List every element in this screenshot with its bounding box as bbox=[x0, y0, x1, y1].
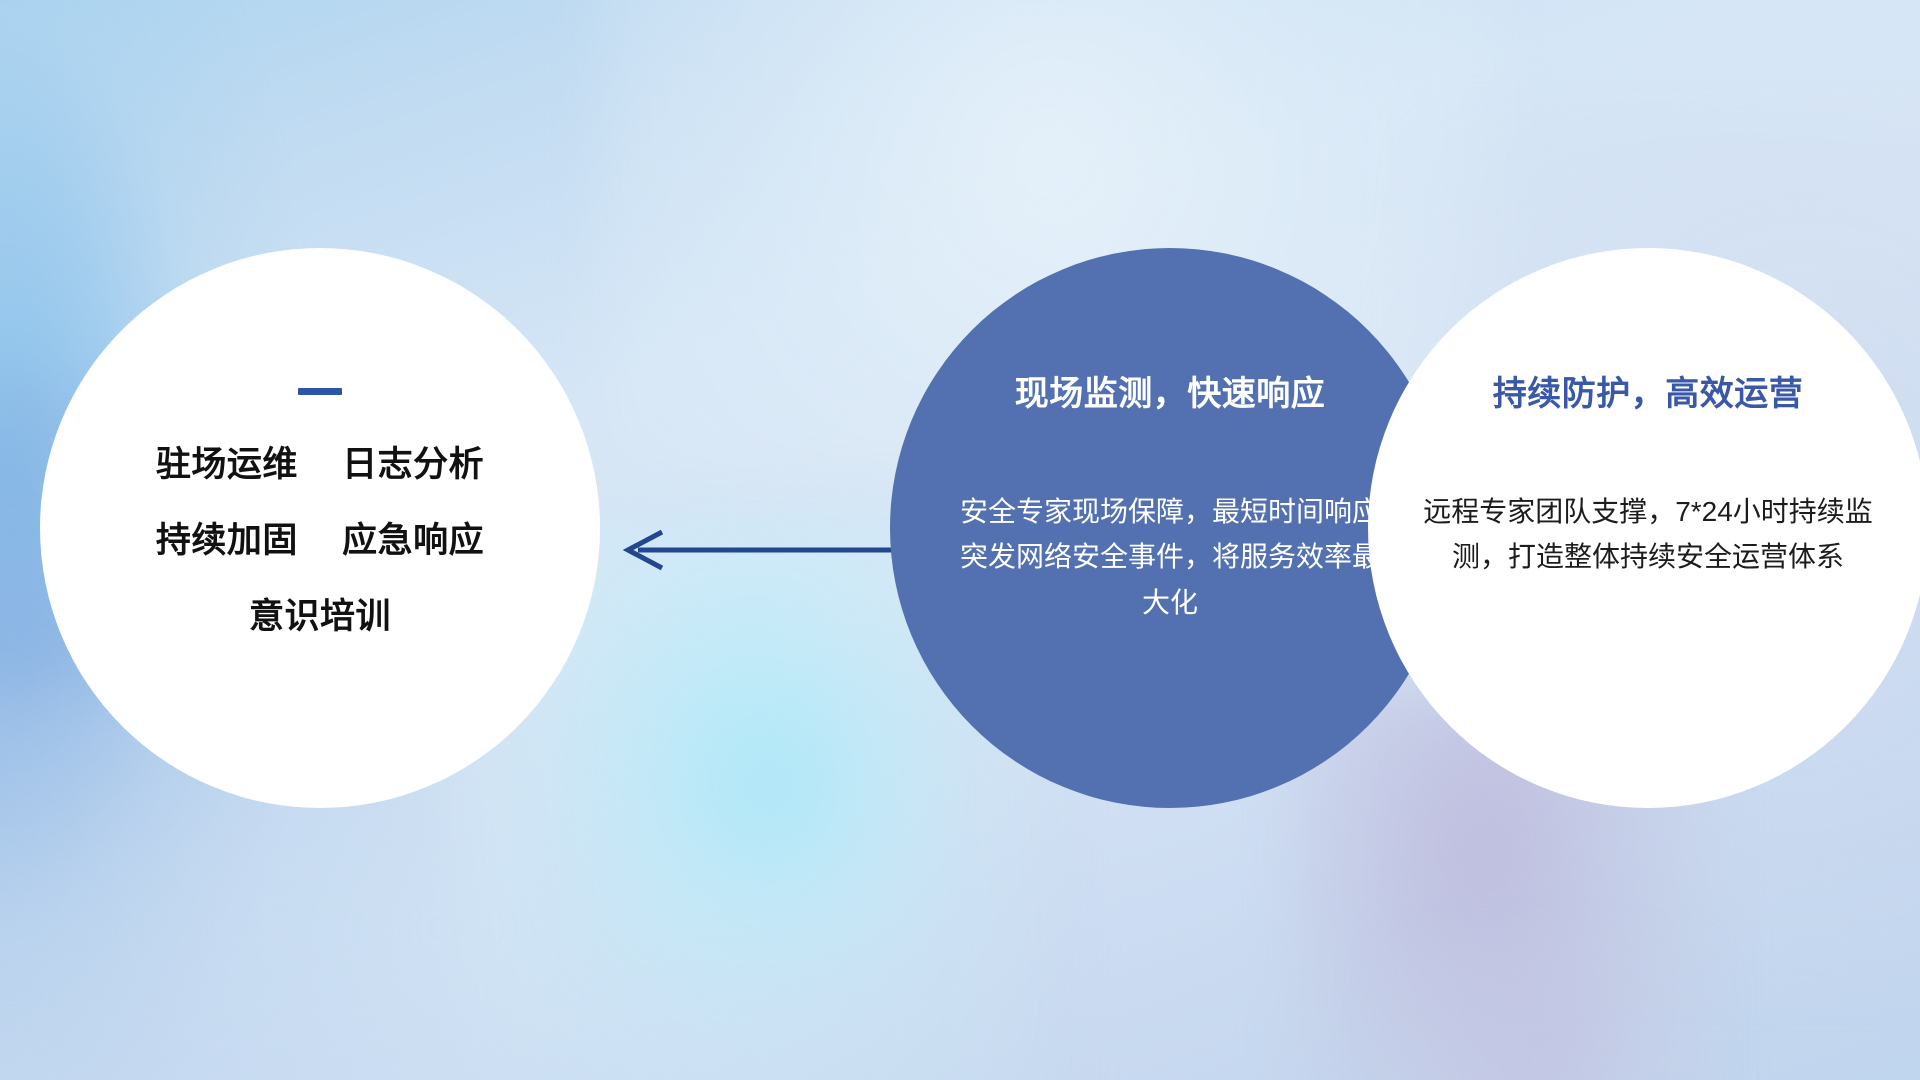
capability-circle-middle-content: 现场监测，快速响应 安全专家现场保障，最短时间响应突发网络安全事件，将服务效率最… bbox=[890, 366, 1450, 625]
capability-circle-right[interactable]: 持续防护，高效运营 远程专家团队支撑，7*24小时持续监测，打造整体持续安全运营… bbox=[1368, 248, 1920, 808]
middle-circle-body: 安全专家现场保障，最短时间响应突发网络安全事件，将服务效率最大化 bbox=[948, 489, 1392, 625]
keyword-yishipeixun: 意识培训 bbox=[249, 599, 391, 634]
keyword-rizhifenxi: 日志分析 bbox=[342, 447, 484, 482]
horizontal-dash-icon bbox=[298, 388, 342, 395]
list-item: 持续加固 应急响应 bbox=[40, 523, 600, 558]
background-mauve-glow-core bbox=[1380, 940, 1710, 1080]
capability-keyword-list: 驻场运维 日志分析 持续加固 应急响应 意识培训 bbox=[40, 447, 600, 634]
list-item: 意识培训 bbox=[40, 599, 600, 634]
connector-arrow bbox=[600, 520, 900, 580]
capability-circle-left-content: 驻场运维 日志分析 持续加固 应急响应 意识培训 bbox=[40, 388, 600, 634]
capability-circle-left[interactable]: 驻场运维 日志分析 持续加固 应急响应 意识培训 bbox=[40, 248, 600, 808]
middle-circle-title: 现场监测，快速响应 bbox=[948, 366, 1392, 415]
capability-circle-middle[interactable]: 现场监测，快速响应 安全专家现场保障，最短时间响应突发网络安全事件，将服务效率最… bbox=[890, 248, 1450, 808]
left-arrow-icon bbox=[628, 532, 900, 568]
capability-circle-right-content: 持续防护，高效运营 远程专家团队支撑，7*24小时持续监测，打造整体持续安全运营… bbox=[1368, 366, 1920, 580]
keyword-yingjixiangying: 应急响应 bbox=[342, 523, 484, 558]
background-cyan-glow-core bbox=[600, 640, 940, 970]
keyword-zhuchangyunwei: 驻场运维 bbox=[156, 447, 298, 482]
slide-canvas: 驻场运维 日志分析 持续加固 应急响应 意识培训 现场监测，快速响应 安全专家现… bbox=[0, 0, 1920, 1080]
keyword-chixujiagu: 持续加固 bbox=[156, 523, 298, 558]
list-item: 驻场运维 日志分析 bbox=[40, 447, 600, 482]
right-circle-body: 远程专家团队支撑，7*24小时持续监测，打造整体持续安全运营体系 bbox=[1420, 489, 1876, 580]
right-circle-title: 持续防护，高效运营 bbox=[1420, 366, 1876, 415]
